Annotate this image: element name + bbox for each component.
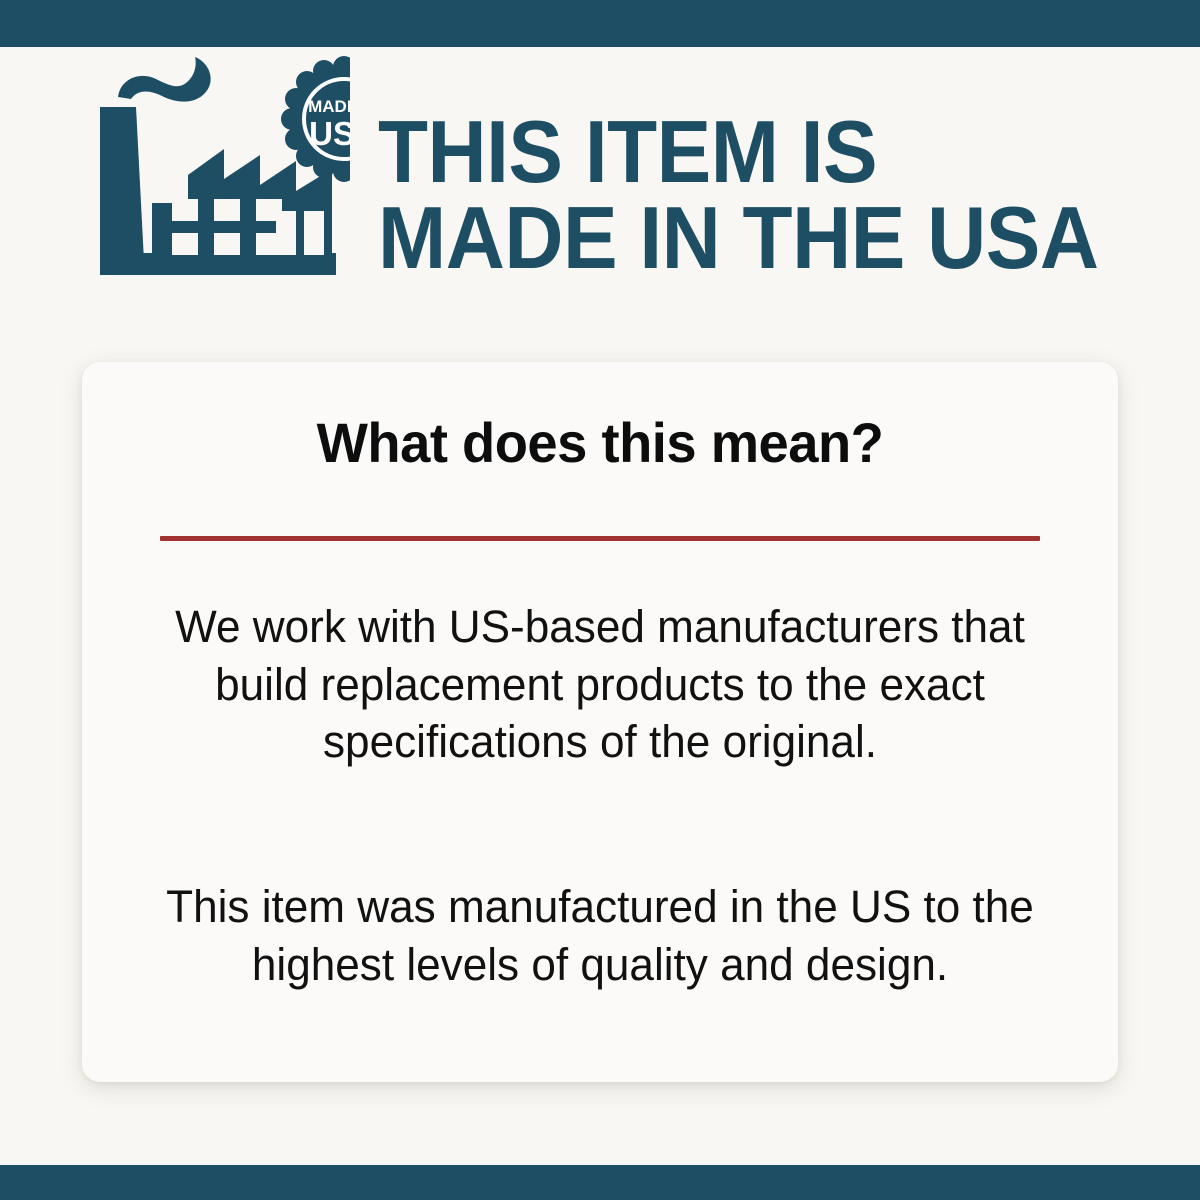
card-paragraph-2: This item was manufactured in the US to … bbox=[151, 878, 1049, 993]
card-divider bbox=[160, 536, 1040, 541]
factory-logo: MADE IN USA bbox=[100, 53, 350, 283]
page-title: THIS ITEM IS MADE IN THE USA bbox=[378, 109, 1168, 281]
badge-line-2: USA bbox=[309, 115, 350, 152]
page-title-line-1: THIS ITEM IS bbox=[378, 109, 1113, 195]
header: MADE IN USA THIS ITEM IS MADE IN THE USA bbox=[0, 53, 1200, 293]
factory-icon: MADE IN USA bbox=[100, 53, 350, 283]
page-title-line-2: MADE IN THE USA bbox=[378, 195, 1113, 281]
card-heading: What does this mean? bbox=[98, 410, 1103, 475]
badge-line-1: MADE IN bbox=[308, 97, 350, 116]
card-paragraph-1: We work with US-based manufacturers that… bbox=[151, 598, 1049, 771]
explanation-card: What does this mean? We work with US-bas… bbox=[82, 362, 1118, 1082]
bottom-accent-bar bbox=[0, 1165, 1200, 1200]
made-in-usa-seal-icon: MADE IN USA bbox=[281, 56, 350, 182]
top-accent-bar bbox=[0, 0, 1200, 47]
